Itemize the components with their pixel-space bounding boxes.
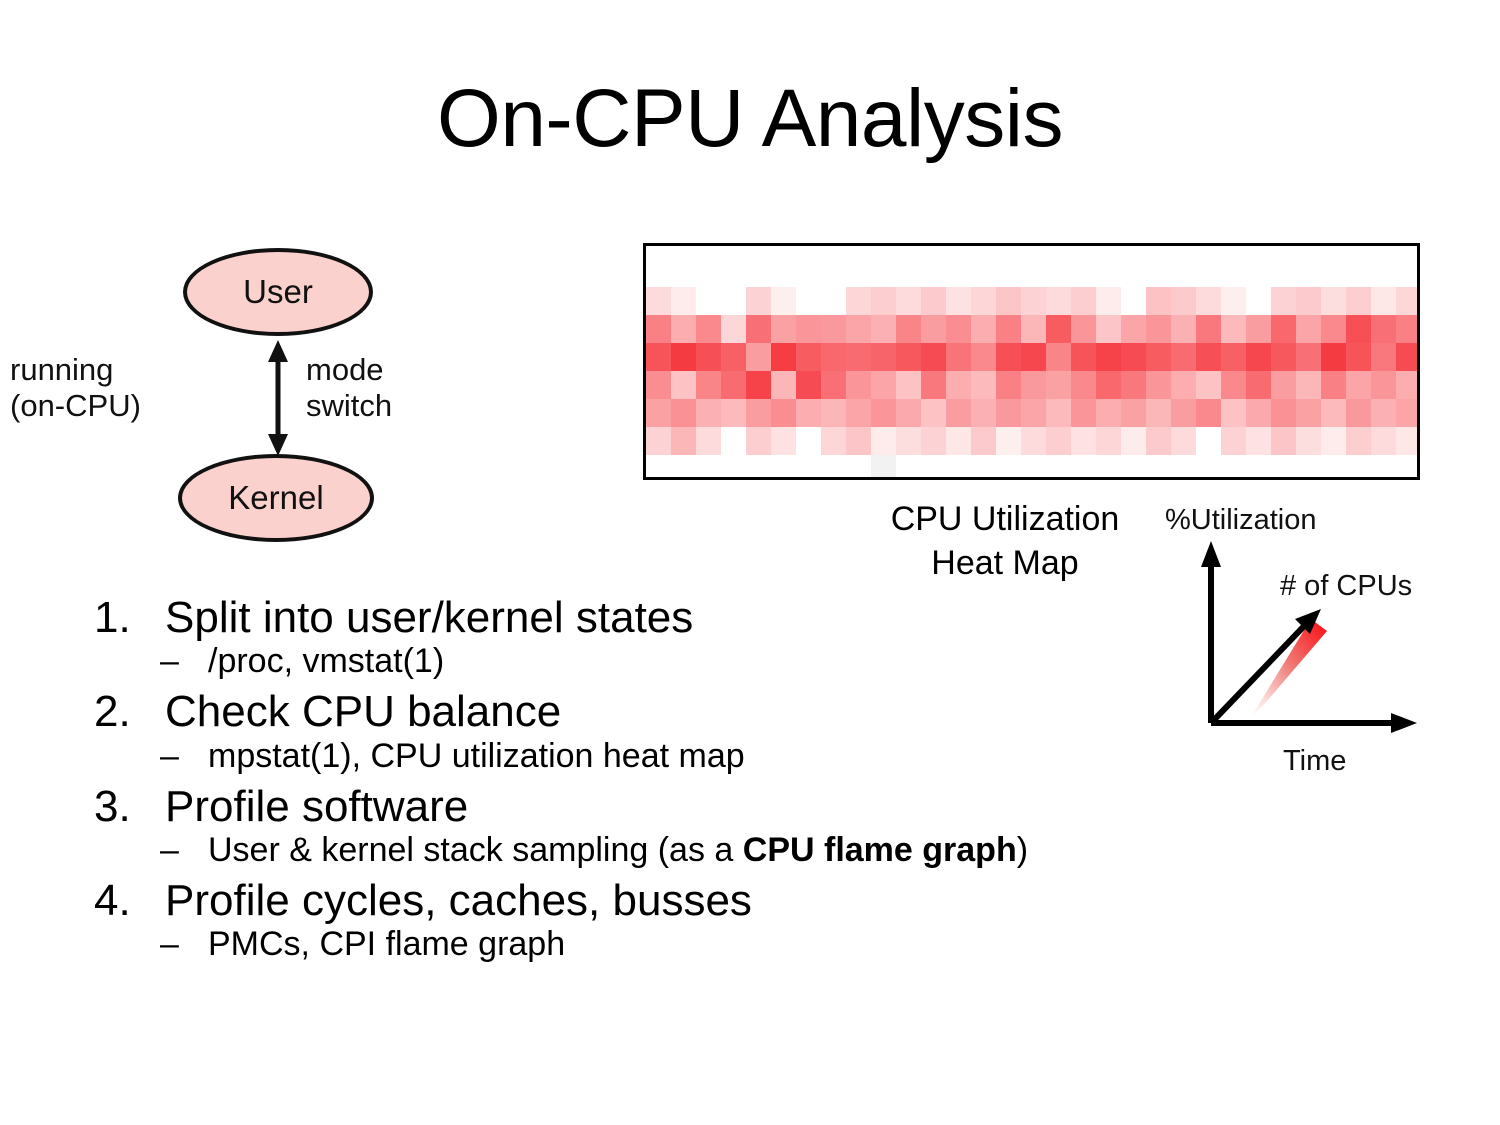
heatmap-row [646,315,1420,343]
heatmap-cell [696,371,721,399]
heatmap-cell [896,343,921,371]
heatmap-cell [671,455,696,480]
heatmap-cell [1046,455,1071,480]
heatmap-cell [946,455,971,480]
heatmap-cell [671,315,696,343]
heatmap-cell [1296,427,1321,455]
heatmap-cell [921,399,946,427]
list-sub-item-dash: – [160,738,179,775]
heatmap-cell [771,455,796,480]
heatmap-cell [671,287,696,315]
heatmap-cell [846,287,871,315]
heatmap-cell [1271,315,1296,343]
heatmap-cell [771,399,796,427]
heatmap-cell [646,427,671,455]
heatmap-cell [846,455,871,480]
heatmap-cell [1046,399,1071,427]
heatmap-cell [1396,343,1420,371]
heatmap-cell [821,427,846,455]
heatmap-cell [1146,371,1171,399]
running-on-cpu-label: running (on-CPU) [10,352,141,424]
heatmap-cell [1321,455,1346,480]
heatmap-cell [1171,315,1196,343]
heatmap-cell [1371,427,1396,455]
heatmap-cell [1371,371,1396,399]
heatmap-cell [1321,343,1346,371]
running-label-line1: running [10,352,141,388]
heatmap-cell [1196,399,1221,427]
cpu-utilization-heatmap [643,243,1420,480]
list-item: 4.Profile cycles, caches, busses [90,877,1440,924]
heatmap-cell [1296,343,1321,371]
heatmap-cell [1171,343,1196,371]
heatmap-cell [971,315,996,343]
user-state-label: User [243,273,313,311]
user-kernel-mode-diagram: User Kernel running (on-CPU) mode switch [110,240,530,560]
heatmap-cell [1071,455,1096,480]
heatmap-cell [1271,427,1296,455]
heatmap-cell [1146,455,1171,480]
heatmap-cell [671,427,696,455]
heatmap-cell [796,371,821,399]
heatmap-row [646,427,1420,455]
heatmap-cell [946,371,971,399]
heatmap-cell [746,427,771,455]
analysis-steps-list: 1.Split into user/kernel states–/proc, v… [90,594,1440,972]
heatmap-cell [1396,455,1420,480]
heatmap-row [646,371,1420,399]
heatmap-cell [1371,287,1396,315]
heatmap-cell [946,343,971,371]
heatmap-cell [996,399,1021,427]
heatmap-cell [1271,455,1296,480]
heatmap-cell [1296,315,1321,343]
heatmap-cell [721,287,746,315]
heatmap-cell [671,343,696,371]
heatmap-cell [1071,315,1096,343]
heatmap-cell [1121,455,1146,480]
heatmap-cell [1046,315,1071,343]
heatmap-cell [1071,427,1096,455]
heatmap-cell [1346,315,1371,343]
heatmap-cell [696,455,721,480]
heatmap-cell [996,315,1021,343]
list-sub-item-dash: – [160,643,179,680]
heatmap-cell [821,343,846,371]
heatmap-cell [1021,371,1046,399]
heatmap-cell [1146,287,1171,315]
heatmap-cell [671,371,696,399]
heatmap-cell [1146,343,1171,371]
heatmap-cell [796,343,821,371]
heatmap-cell [846,343,871,371]
heatmap-row [646,287,1420,315]
heatmap-cell [1096,399,1121,427]
heatmap-cell [1071,287,1096,315]
heatmap-cell [871,455,896,480]
heatmap-cell [1021,399,1046,427]
heatmap-cell [971,455,996,480]
heatmap-cell [1121,343,1146,371]
heatmap-cell [721,315,746,343]
heatmap-cell [1396,287,1420,315]
heatmap-cell [896,371,921,399]
heatmap-cell [1171,399,1196,427]
heatmap-cell [1321,399,1346,427]
heatmap-cell [971,399,996,427]
list-sub-item-label: mpstat(1), CPU utilization heat map [208,737,745,775]
heatmap-cell [1296,371,1321,399]
list-item-label: Check CPU balance [165,687,561,736]
heatmap-cell [1146,315,1171,343]
heatmap-cell [1271,399,1296,427]
heatmap-cell [1221,399,1246,427]
heatmap-row [646,399,1420,427]
heatmap-cell [1121,371,1146,399]
heatmap-cell [996,343,1021,371]
heatmap-caption: CPU Utilization Heat Map [805,498,1205,585]
heatmap-cell [696,287,721,315]
heatmap-cell [921,455,946,480]
heatmap-cell [721,371,746,399]
heatmap-cell [971,427,996,455]
heatmap-cell [1096,455,1121,480]
heatmap-cell [771,315,796,343]
page-title: On-CPU Analysis [0,78,1500,160]
heatmap-cell [821,399,846,427]
heatmap-cell [771,371,796,399]
list-sub-item-dash: – [160,926,179,963]
heatmap-cell [746,287,771,315]
heatmap-cell [721,399,746,427]
heatmap-cell [796,287,821,315]
heatmap-cell [1121,287,1146,315]
heatmap-cell [721,427,746,455]
heatmap-cell [946,287,971,315]
heatmap-cell [1321,315,1346,343]
heatmap-cell [871,287,896,315]
list-item-number: 3. [94,783,131,830]
heatmap-caption-line1: CPU Utilization [805,498,1205,542]
heatmap-cell [796,455,821,480]
heatmap-cell [871,371,896,399]
heatmap-cell [1296,287,1321,315]
list-item-label: Profile software [165,782,468,831]
heatmap-cell [796,399,821,427]
heatmap-cell [1346,455,1371,480]
heatmap-cell [921,371,946,399]
heatmap-cell [971,287,996,315]
heatmap-cell [1371,455,1396,480]
heatmap-cell [1346,371,1371,399]
list-item-label: Split into user/kernel states [165,593,693,642]
heatmap-cell [996,287,1021,315]
heatmap-cell [871,427,896,455]
heatmap-cell [1096,343,1121,371]
kernel-state-ellipse: Kernel [178,454,374,542]
heatmap-cell [1096,427,1121,455]
heatmap-cell [1346,427,1371,455]
heatmap-cell [996,455,1021,480]
heatmap-cell [646,343,671,371]
heatmap-cell [671,399,696,427]
heatmap-cell [1296,455,1321,480]
heatmap-cell [796,315,821,343]
y-axis-label: %Utilization [1165,504,1317,536]
heatmap-cell [1271,343,1296,371]
list-sub-item-dash: – [160,832,179,869]
heatmap-cell [1346,287,1371,315]
heatmap-cell [1321,287,1346,315]
heatmap-cell [896,399,921,427]
heatmap-cell [1146,399,1171,427]
heatmap-cell [1221,455,1246,480]
heatmap-cell [1246,399,1271,427]
heatmap-cell [846,315,871,343]
heatmap-cell [1021,287,1046,315]
heatmap-cell [746,343,771,371]
heatmap-cell [1121,399,1146,427]
list-sub-item-label: User & kernel stack sampling (as a CPU f… [208,831,1028,869]
heatmap-cell [1246,371,1271,399]
heatmap-cell [1096,315,1121,343]
heatmap-cell [1196,343,1221,371]
heatmap-cell [646,399,671,427]
heatmap-cell [746,455,771,480]
heatmap-cell [946,399,971,427]
heatmap-cell [1171,371,1196,399]
heatmap-cell [1221,287,1246,315]
heatmap-cell [946,427,971,455]
heatmap-cell [1021,343,1046,371]
heatmap-cell [946,315,971,343]
heatmap-cell [1121,427,1146,455]
heatmap-cell [1271,371,1296,399]
heatmap-cell [846,371,871,399]
heatmap-cell [846,399,871,427]
list-item-number: 2. [94,688,131,735]
heatmap-cell [1346,343,1371,371]
heatmap-cell [1396,315,1420,343]
heatmap-cell [746,399,771,427]
heatmap-cell [1246,455,1271,480]
heatmap-cell [796,427,821,455]
heatmap-cell [1221,371,1246,399]
heatmap-cell [746,315,771,343]
heatmap-cell [996,427,1021,455]
user-state-ellipse: User [183,248,373,336]
heatmap-cell [1071,343,1096,371]
heatmap-cell [1021,427,1046,455]
heatmap-grid [646,287,1420,480]
heatmap-cell [846,427,871,455]
heatmap-cell [1196,315,1221,343]
heatmap-row [646,455,1420,480]
heatmap-cell [1246,315,1271,343]
running-label-line2: (on-CPU) [10,388,141,424]
heatmap-cell [896,315,921,343]
heatmap-cell [721,455,746,480]
heatmap-cell [696,399,721,427]
heatmap-cell [1396,371,1420,399]
emphasis-text: CPU flame graph [743,831,1017,869]
heatmap-cell [921,427,946,455]
list-item-label: Profile cycles, caches, busses [165,876,752,925]
heatmap-cell [646,371,671,399]
heatmap-cell [646,287,671,315]
heatmap-cell [1196,371,1221,399]
heatmap-cell [1096,371,1121,399]
heatmap-cell [1321,371,1346,399]
heatmap-cell [896,427,921,455]
mode-switch-label: mode switch [306,352,392,424]
heatmap-cell [971,371,996,399]
heatmap-cell [1296,399,1321,427]
heatmap-cell [821,371,846,399]
heatmap-cell [1071,399,1096,427]
heatmap-cell [646,315,671,343]
heatmap-cell [1371,343,1396,371]
heatmap-cell [1221,315,1246,343]
list-item: 2.Check CPU balance [90,688,1440,735]
list-sub-item: –PMCs, CPI flame graph [90,926,1440,963]
heatmap-row [646,343,1420,371]
heatmap-cell [1046,427,1071,455]
heatmap-cell [1121,315,1146,343]
heatmap-cell [821,315,846,343]
heatmap-cell [821,455,846,480]
double-arrow-icon [258,340,298,456]
heatmap-caption-line2: Heat Map [805,542,1205,586]
heatmap-cell [1246,287,1271,315]
heatmap-cell [1196,427,1221,455]
heatmap-cell [1346,399,1371,427]
heatmap-cell [1171,287,1196,315]
heatmap-cell [696,315,721,343]
heatmap-cell [971,343,996,371]
heatmap-cell [1096,287,1121,315]
heatmap-cell [696,427,721,455]
heatmap-cell [771,287,796,315]
heatmap-cell [1196,455,1221,480]
heatmap-cell [996,371,1021,399]
heatmap-cell [771,427,796,455]
list-sub-item-label: PMCs, CPI flame graph [208,925,565,963]
heatmap-cell [1021,315,1046,343]
list-sub-item: –User & kernel stack sampling (as a CPU … [90,832,1440,869]
list-sub-item-label: /proc, vmstat(1) [208,642,444,680]
heatmap-cell [1046,371,1071,399]
heatmap-cell [1171,455,1196,480]
list-item-number: 1. [94,594,131,641]
heatmap-cell [1046,343,1071,371]
heatmap-cell [1396,399,1420,427]
heatmap-cell [921,315,946,343]
heatmap-cell [1371,399,1396,427]
heatmap-cell [1396,427,1420,455]
heatmap-cell [1146,427,1171,455]
heatmap-cell [696,343,721,371]
heatmap-cell [1246,427,1271,455]
heatmap-cell [1046,287,1071,315]
heatmap-cell [896,287,921,315]
heatmap-cell [1171,427,1196,455]
heatmap-cell [1371,315,1396,343]
heatmap-cell [1021,455,1046,480]
heatmap-cell [921,287,946,315]
heatmap-cell [1321,427,1346,455]
heatmap-cell [771,343,796,371]
heatmap-cell [871,399,896,427]
heatmap-cell [721,343,746,371]
list-item: 1.Split into user/kernel states [90,594,1440,641]
list-item: 3.Profile software [90,783,1440,830]
heatmap-cell [1271,287,1296,315]
mode-switch-line1: mode [306,352,392,388]
heatmap-cell [821,287,846,315]
heatmap-cell [1071,371,1096,399]
heatmap-cell [646,455,671,480]
mode-switch-line2: switch [306,388,392,424]
heatmap-cell [746,371,771,399]
heatmap-cell [1196,287,1221,315]
kernel-state-label: Kernel [228,479,323,517]
list-sub-item: –mpstat(1), CPU utilization heat map [90,738,1440,775]
heatmap-cell [896,455,921,480]
heatmap-cell [1221,343,1246,371]
list-sub-item: –/proc, vmstat(1) [90,643,1440,680]
heatmap-cell [1246,343,1271,371]
heatmap-cell [871,315,896,343]
heatmap-cell [921,343,946,371]
heatmap-cell [871,343,896,371]
list-item-number: 4. [94,877,131,924]
heatmap-cell [1221,427,1246,455]
